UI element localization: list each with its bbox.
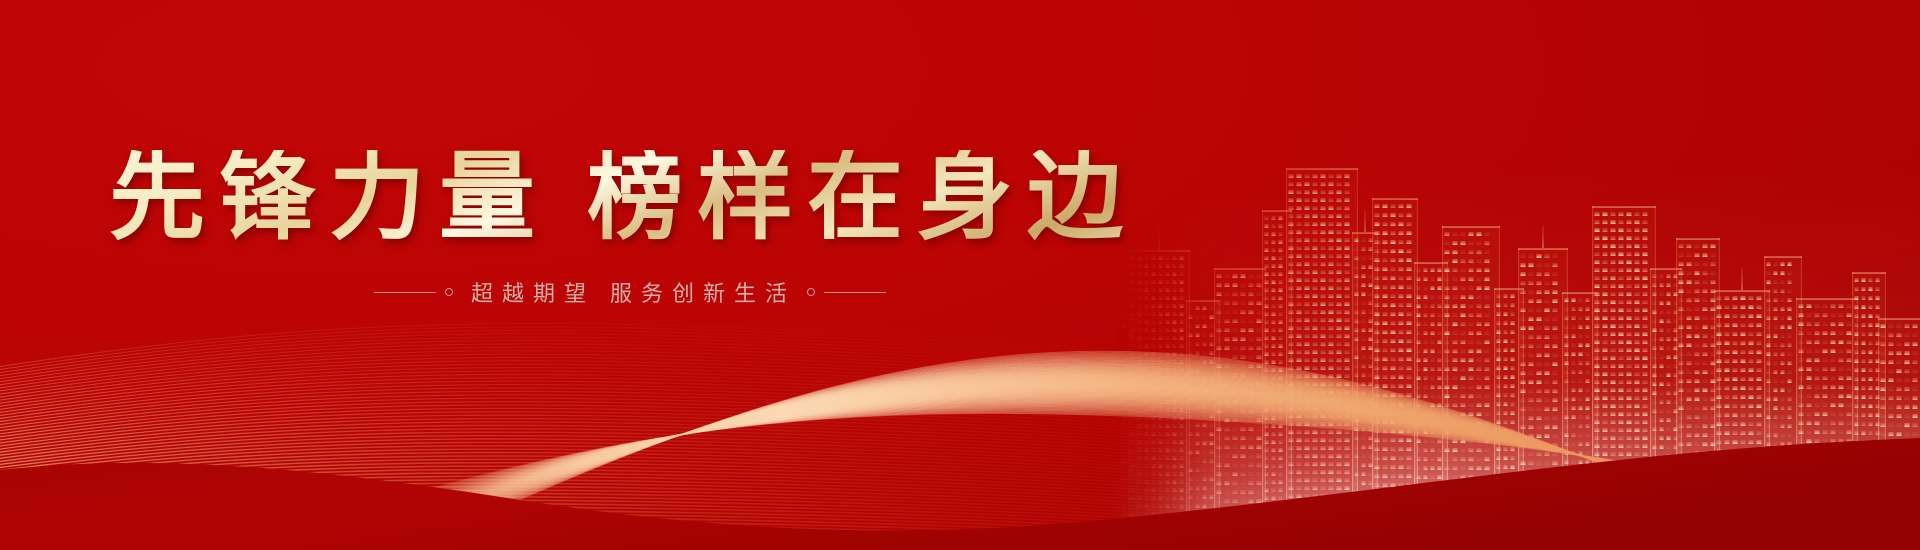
subtitle-text: 超越期望 服务创新生活 xyxy=(462,276,798,308)
page-title: 先锋力量 榜样在身边 xyxy=(109,150,1151,246)
circle-marker-right-icon xyxy=(807,288,815,296)
banner-content: 先锋力量 榜样在身边 超越期望 服务创新生活 xyxy=(0,0,1260,550)
horizontal-rule-left-icon xyxy=(374,292,436,293)
subtitle-row: 超越期望 服务创新生活 xyxy=(374,276,886,308)
promotional-banner: 先锋力量 榜样在身边 超越期望 服务创新生活 xyxy=(0,0,1920,550)
circle-marker-left-icon xyxy=(445,288,453,296)
horizontal-rule-right-icon xyxy=(824,292,886,293)
